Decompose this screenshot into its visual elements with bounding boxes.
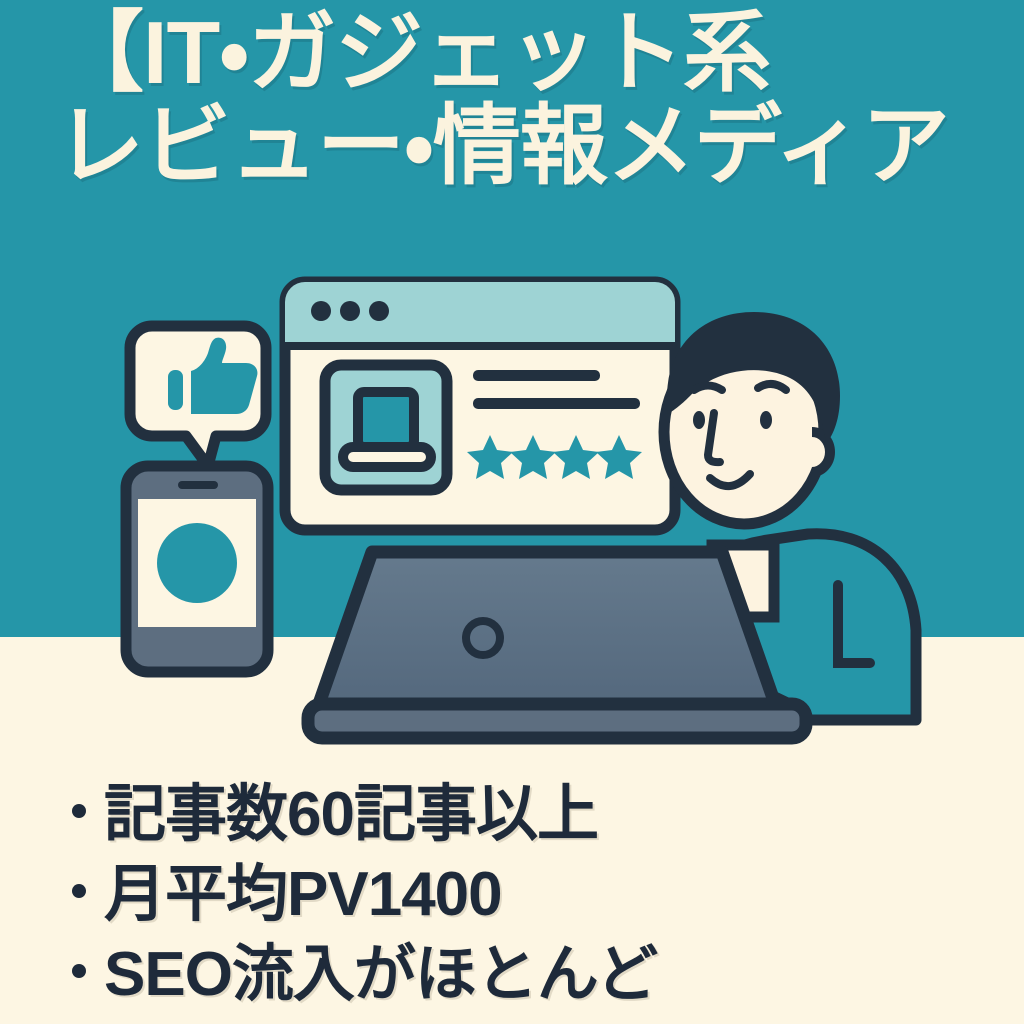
speech-bubble (130, 326, 266, 466)
poster-headline: 【IT・ガジェット系 レビュー・情報メディア (56, 6, 1016, 193)
smartphone (126, 466, 268, 672)
stats-bullet-list: 記事数60記事以上 月平均PV1400 SEO流入がほとんど (72, 768, 972, 1008)
laptop-device-icon (325, 365, 447, 490)
list-item: SEO流入がほとんど (72, 928, 972, 1008)
bullet-text: 記事数60記事以上 (104, 763, 598, 853)
list-item: 月平均PV1400 (72, 848, 972, 928)
bullet-dot-icon (72, 884, 86, 898)
bullet-text: SEO流入がほとんど (104, 923, 657, 1013)
headline-line-2: レビュー・情報メディア (56, 99, 1016, 192)
laptop (308, 552, 806, 738)
circle-avatar-icon (157, 523, 237, 603)
headline-line-1: 【IT・ガジェット系 (56, 6, 1016, 99)
browser-window (285, 282, 675, 530)
poster-canvas: 【IT・ガジェット系 レビュー・情報メディア 記事数60記事以上 月平均PV14… (0, 0, 1024, 1024)
bullet-text: 月平均PV1400 (104, 843, 502, 933)
browser-titlebar-dots (311, 301, 389, 321)
bullet-dot-icon (72, 964, 86, 978)
bullet-dot-icon (72, 804, 86, 818)
list-item: 記事数60記事以上 (72, 768, 972, 848)
